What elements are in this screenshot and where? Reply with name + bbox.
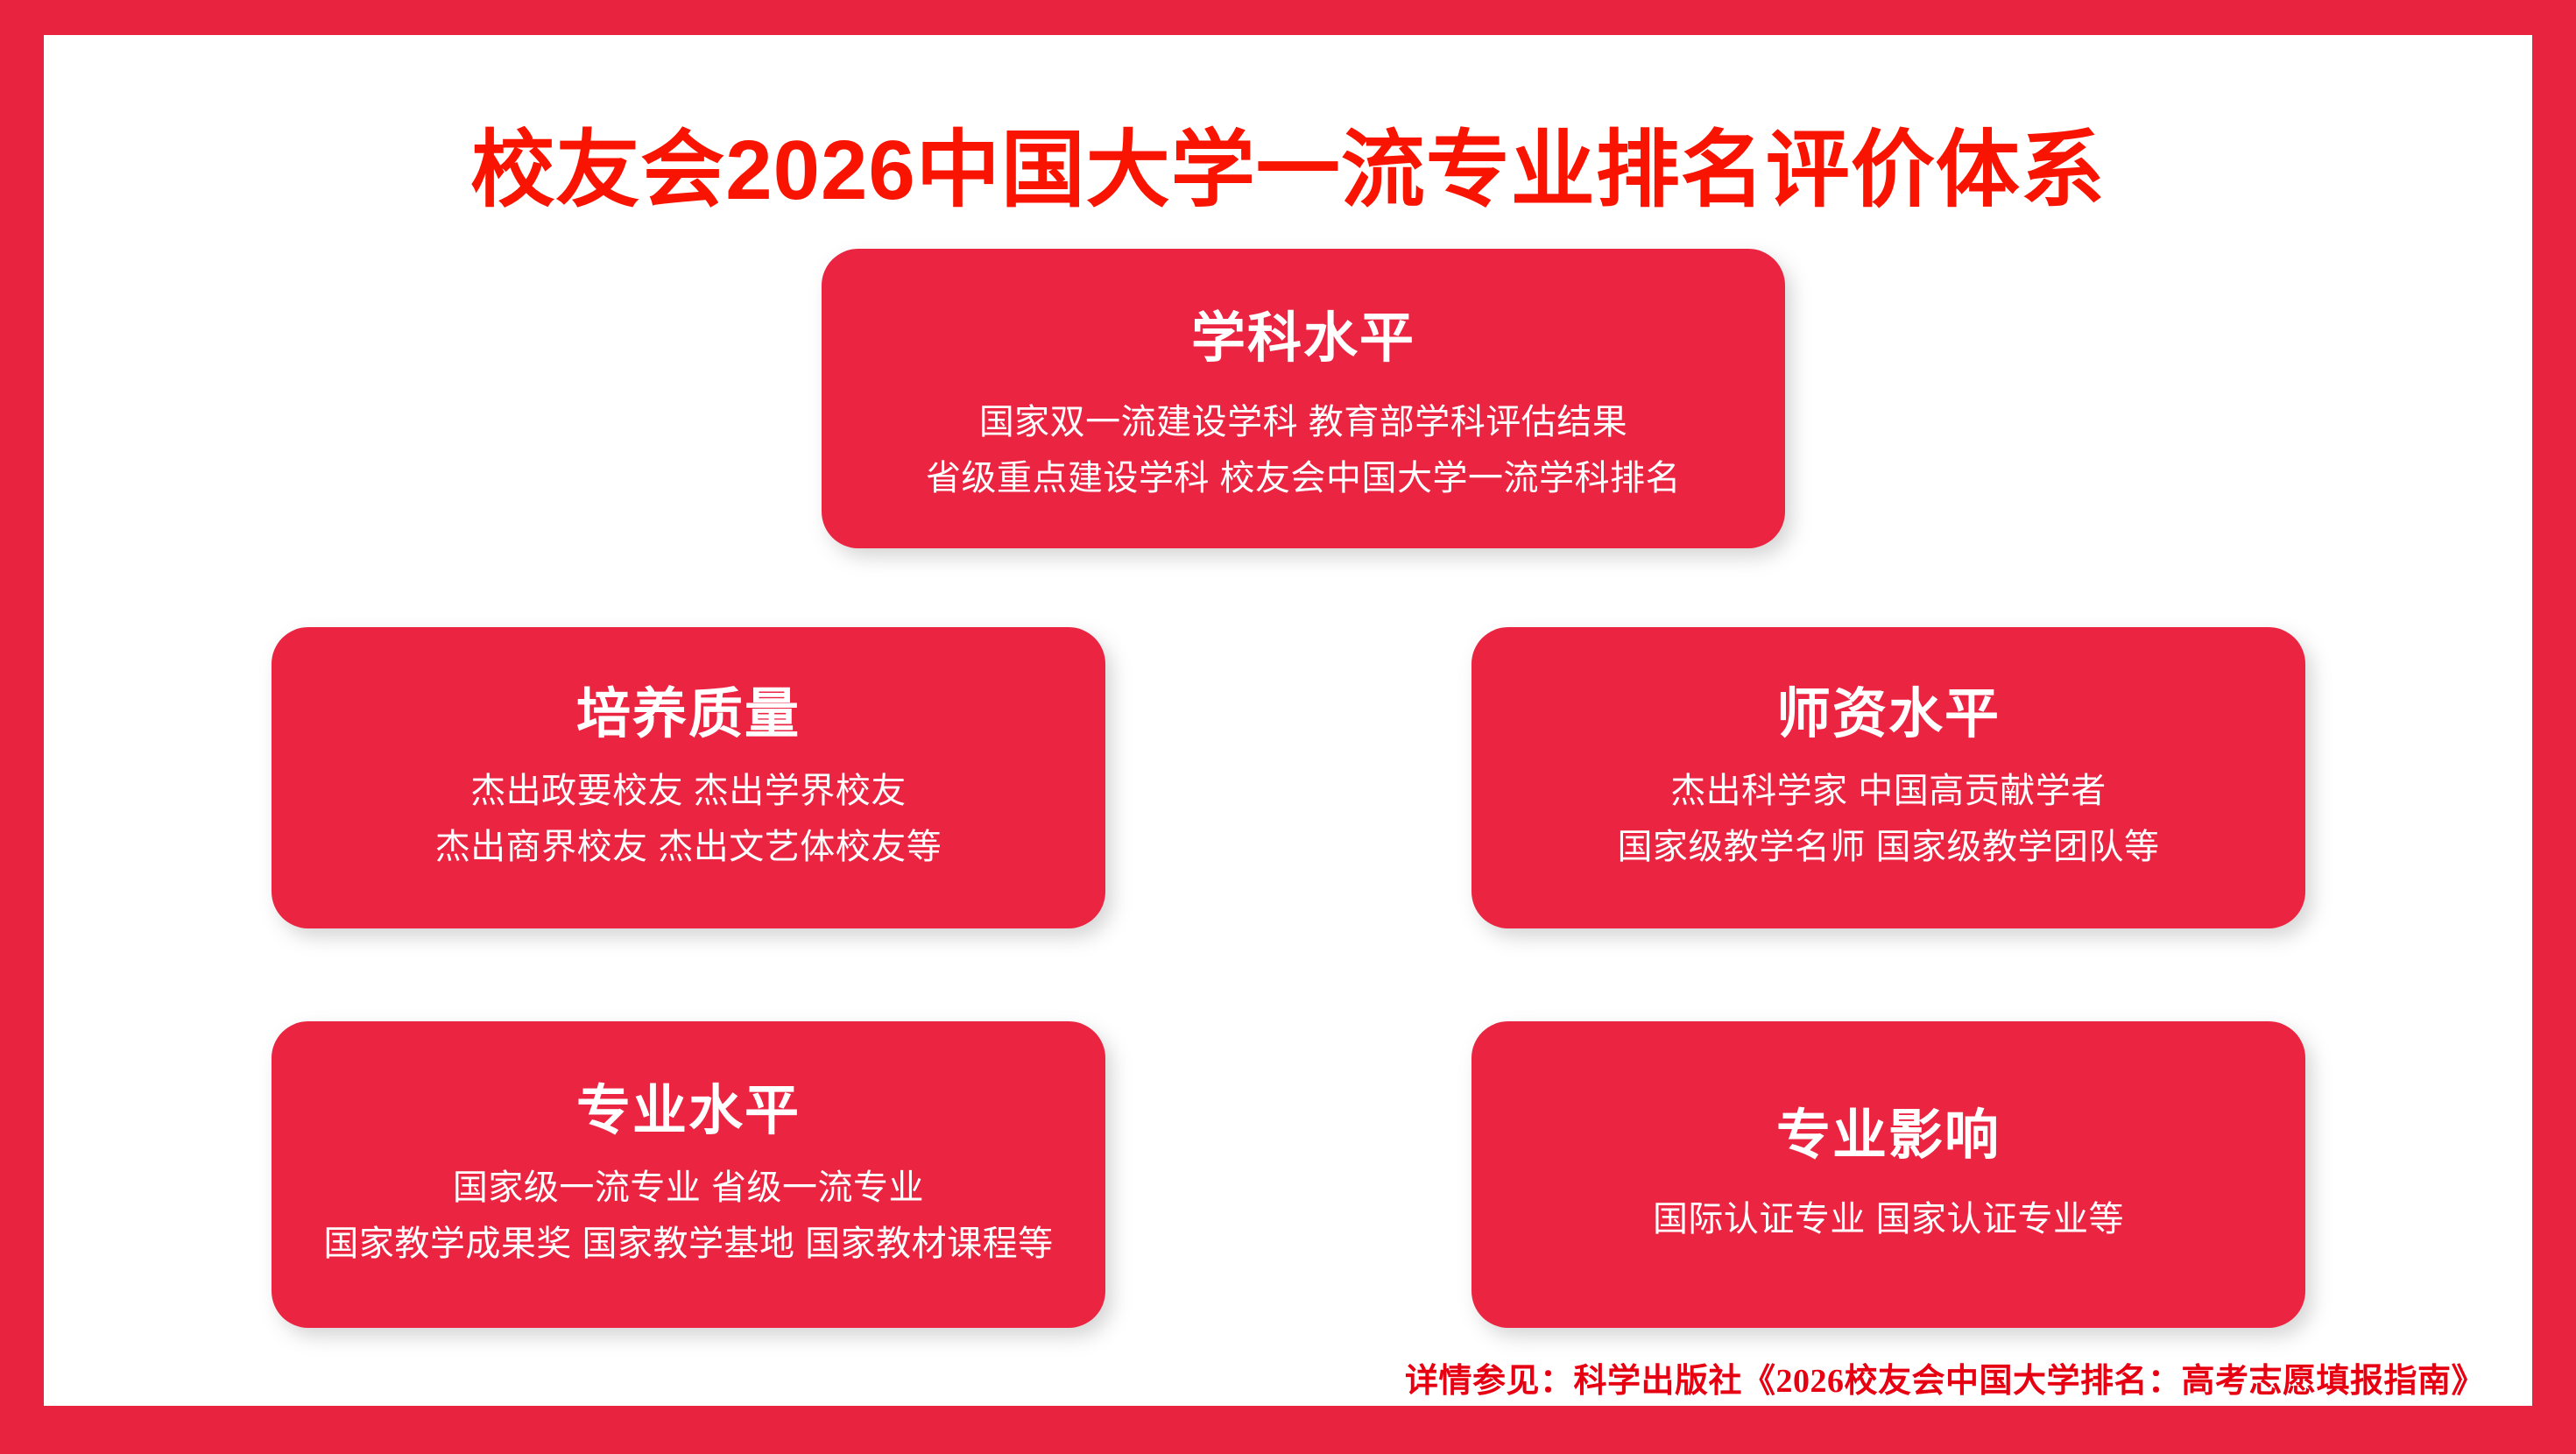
- card-major-level[interactable]: 专业水平 国家级一流专业 省级一流专业 国家教学成果奖 国家教学基地 国家教材课…: [272, 1021, 1105, 1328]
- page-title: 校友会2026中国大学一流专业排名评价体系: [44, 127, 2532, 215]
- card-faculty[interactable]: 师资水平 杰出科学家 中国高贡献学者 国家级教学名师 国家级教学团队等: [1471, 627, 2305, 928]
- card-faculty-title: 师资水平: [1776, 685, 2001, 745]
- card-discipline-lines: 国家双一流建设学科 教育部学科评估结果 省级重点建设学科 校友会中国大学一流学科…: [926, 399, 1681, 502]
- card-major-impact[interactable]: 专业影响 国际认证专业 国家认证专业等: [1471, 1021, 2305, 1328]
- card-discipline-line-1: 国家双一流建设学科 教育部学科评估结果: [979, 399, 1628, 446]
- card-cultivation-title: 培养质量: [576, 685, 801, 745]
- card-faculty-line-2: 国家级教学名师 国家级教学团队等: [1617, 823, 2159, 871]
- card-faculty-line-1: 杰出科学家 中国高贡献学者: [1670, 767, 2107, 815]
- card-major-impact-line-1: 国际认证专业 国家认证专业等: [1653, 1196, 2124, 1243]
- card-major-impact-title: 专业影响: [1776, 1106, 2001, 1166]
- poster-canvas: 校友会2026中国大学一流专业排名评价体系 学科水平 国家双一流建设学科 教育部…: [44, 35, 2532, 1406]
- card-cultivation-line-1: 杰出政要校友 杰出学界校友: [470, 767, 907, 815]
- footer-note: 详情参见：科学出版社《2026校友会中国大学排名：高考志愿填报指南》: [1405, 1353, 2485, 1401]
- card-cultivation-lines: 杰出政要校友 杰出学界校友 杰出商界校友 杰出文艺体校友等: [435, 767, 942, 871]
- card-cultivation-line-2: 杰出商界校友 杰出文艺体校友等: [435, 823, 942, 871]
- card-major-level-line-1: 国家级一流专业 省级一流专业: [453, 1164, 924, 1211]
- card-major-impact-lines: 国际认证专业 国家认证专业等: [1653, 1196, 2124, 1243]
- poster-root: 校友会2026中国大学一流专业排名评价体系 学科水平 国家双一流建设学科 教育部…: [0, 0, 2576, 1454]
- card-discipline-title: 学科水平: [1191, 309, 1415, 369]
- card-discipline[interactable]: 学科水平 国家双一流建设学科 教育部学科评估结果 省级重点建设学科 校友会中国大…: [822, 249, 1785, 548]
- card-cultivation[interactable]: 培养质量 杰出政要校友 杰出学界校友 杰出商界校友 杰出文艺体校友等: [272, 627, 1105, 928]
- card-major-level-lines: 国家级一流专业 省级一流专业 国家教学成果奖 国家教学基地 国家教材课程等: [323, 1164, 1053, 1267]
- card-discipline-line-2: 省级重点建设学科 校友会中国大学一流学科排名: [926, 455, 1681, 502]
- card-major-level-line-2: 国家教学成果奖 国家教学基地 国家教材课程等: [323, 1220, 1053, 1267]
- card-faculty-lines: 杰出科学家 中国高贡献学者 国家级教学名师 国家级教学团队等: [1617, 767, 2159, 871]
- card-major-level-title: 专业水平: [576, 1082, 801, 1141]
